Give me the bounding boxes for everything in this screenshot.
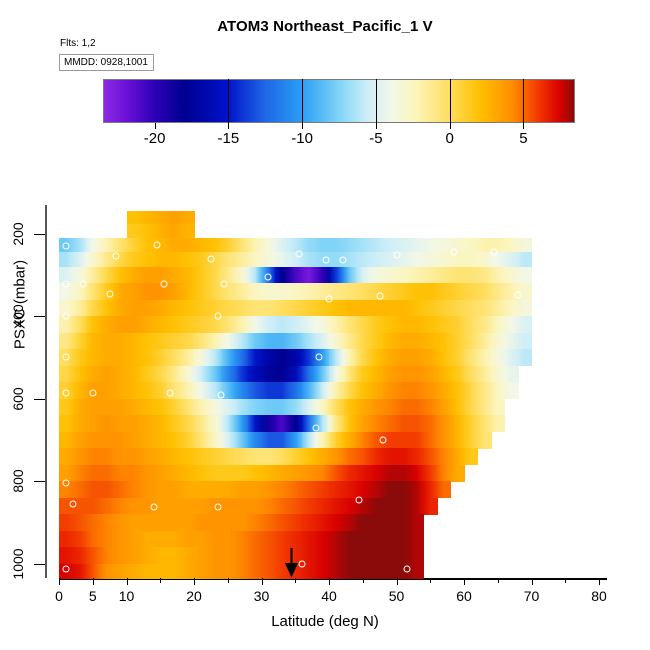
heatmap-cell [370, 547, 384, 564]
colorbar-tick-label: 0 [445, 130, 453, 147]
data-point-marker [214, 313, 221, 320]
heatmap-cell [221, 252, 235, 267]
heatmap-cell [397, 399, 411, 416]
heatmap-cell [235, 415, 249, 432]
heatmap-cell [154, 564, 168, 579]
heatmap-cell [289, 399, 303, 416]
heatmap-cell [167, 252, 181, 267]
heatmap-cell [343, 399, 357, 416]
heatmap-cell [221, 564, 235, 579]
heatmap-cell [478, 415, 492, 432]
heatmap-cell [424, 252, 438, 267]
heatmap-cell [140, 267, 154, 284]
heatmap-cell [437, 349, 451, 366]
heatmap-cell [302, 448, 316, 465]
heatmap-cell [464, 300, 478, 317]
heatmap-cell [410, 465, 424, 482]
heatmap-cell [397, 448, 411, 465]
heatmap-cell [275, 382, 289, 399]
heatmap-cell [86, 564, 100, 579]
heatmap-cell [437, 399, 451, 416]
heatmap-cell [86, 366, 100, 383]
heatmap-cell [356, 349, 370, 366]
heatmap-cell [424, 498, 438, 515]
heatmap-cell [140, 465, 154, 482]
heatmap-cell [302, 267, 316, 284]
heatmap-cell [113, 283, 127, 300]
heatmap-cell [343, 531, 357, 548]
heatmap-cell [356, 283, 370, 300]
heatmap-cell [248, 564, 262, 579]
heatmap-cell [370, 564, 384, 579]
heatmap-cell [127, 564, 141, 579]
heatmap-cell [491, 399, 505, 416]
x-axis-minor-tick [295, 578, 296, 583]
heatmap-cell [397, 366, 411, 383]
heatmap-cell [100, 531, 114, 548]
heatmap-cell [478, 382, 492, 399]
heatmap-cell [127, 465, 141, 482]
heatmap-cell [343, 349, 357, 366]
heatmap-cell [518, 252, 532, 267]
heatmap-cell [316, 238, 330, 253]
heatmap-cell [181, 211, 195, 224]
heatmap-cell [167, 267, 181, 284]
heatmap-cell [356, 382, 370, 399]
heatmap-cell [356, 267, 370, 284]
heatmap-cell [167, 316, 181, 333]
heatmap-cell [208, 349, 222, 366]
x-axis-tick [194, 578, 195, 585]
heatmap-cell [518, 267, 532, 284]
heatmap-cell [181, 267, 195, 284]
heatmap-cell [275, 498, 289, 515]
heatmap-cell [289, 432, 303, 449]
x-axis-title: Latitude (deg N) [0, 613, 650, 630]
heatmap-cell [289, 531, 303, 548]
heatmap-cell [437, 382, 451, 399]
heatmap-cell [248, 514, 262, 531]
heatmap-cell [505, 238, 519, 253]
heatmap-cell [356, 448, 370, 465]
heatmap-cell [208, 399, 222, 416]
heatmap-cell [154, 465, 168, 482]
heatmap-cell [140, 432, 154, 449]
heatmap-cell [127, 211, 141, 224]
heatmap-cell [208, 514, 222, 531]
heatmap-cell [181, 224, 195, 239]
heatmap-cell [383, 333, 397, 350]
heatmap-cell [329, 498, 343, 515]
heatmap-cell [127, 333, 141, 350]
heatmap-cell [100, 465, 114, 482]
heatmap-cell [100, 366, 114, 383]
heatmap-cell [235, 531, 249, 548]
heatmap-cell [383, 366, 397, 383]
data-point-marker [322, 256, 329, 263]
heatmap-cell [316, 564, 330, 579]
heatmap-cell [383, 498, 397, 515]
heatmap-cell [329, 481, 343, 498]
heatmap-cell [329, 514, 343, 531]
heatmap-cell [181, 238, 195, 253]
heatmap-cell [343, 498, 357, 515]
heatmap-cell [518, 238, 532, 253]
latitude-arrow-icon [285, 548, 298, 578]
heatmap-cell [181, 514, 195, 531]
heatmap-cell [289, 465, 303, 482]
heatmap-cell [316, 514, 330, 531]
heatmap-cell [113, 300, 127, 317]
heatmap-cell [127, 267, 141, 284]
heatmap-cell [410, 432, 424, 449]
mmdd-annotation: MMDD: 0928,1001 [59, 54, 154, 71]
heatmap-cell [316, 399, 330, 416]
heatmap-cell [329, 399, 343, 416]
heatmap-cell [154, 349, 168, 366]
heatmap-cell [397, 267, 411, 284]
heatmap-cell [221, 349, 235, 366]
heatmap-cell [478, 252, 492, 267]
heatmap-cell [140, 564, 154, 579]
heatmap-cell [370, 399, 384, 416]
heatmap-cell [383, 283, 397, 300]
heatmap-cell [167, 238, 181, 253]
y-axis-title: PSXC (mbar) [12, 205, 29, 405]
heatmap-cell [410, 448, 424, 465]
heatmap-cell [478, 366, 492, 383]
heatmap-cell [370, 382, 384, 399]
heatmap-cell [262, 333, 276, 350]
x-axis-tick-label: 60 [456, 588, 472, 604]
heatmap-cell [316, 547, 330, 564]
heatmap-cell [154, 415, 168, 432]
heatmap-cell [383, 514, 397, 531]
heatmap-cell [194, 267, 208, 284]
heatmap-cell [451, 399, 465, 416]
x-axis-tick [262, 578, 263, 585]
data-point-marker [113, 252, 120, 259]
heatmap-cell [424, 399, 438, 416]
x-axis-tick-label: 70 [524, 588, 540, 604]
heatmap-cell [194, 465, 208, 482]
heatmap-cell [140, 366, 154, 383]
data-point-marker [218, 392, 225, 399]
heatmap-cell [86, 481, 100, 498]
heatmap-cell [167, 498, 181, 515]
x-axis-tick [464, 578, 465, 585]
heatmap-cell [410, 333, 424, 350]
colorbar-tick-line [450, 79, 451, 123]
x-axis-tick [397, 578, 398, 585]
heatmap-cell [343, 238, 357, 253]
heatmap-cell [316, 465, 330, 482]
heatmap-cell [208, 547, 222, 564]
heatmap-cell [113, 415, 127, 432]
heatmap-cell [451, 283, 465, 300]
heatmap-cell [100, 382, 114, 399]
heatmap-cell [248, 252, 262, 267]
heatmap-cell [86, 316, 100, 333]
heatmap-cell [73, 382, 87, 399]
heatmap-cell [262, 432, 276, 449]
heatmap-cell [451, 432, 465, 449]
heatmap-cell [140, 349, 154, 366]
heatmap-cell [275, 481, 289, 498]
heatmap-cell [478, 432, 492, 449]
heatmap-cell [262, 531, 276, 548]
heatmap-cell [383, 481, 397, 498]
heatmap-cell [356, 333, 370, 350]
heatmap-cell [73, 366, 87, 383]
heatmap-cell [329, 300, 343, 317]
heatmap-cell [167, 349, 181, 366]
heatmap-cell [194, 316, 208, 333]
heatmap-cell [140, 514, 154, 531]
heatmap-cell [383, 267, 397, 284]
heatmap-cell [59, 399, 73, 416]
heatmap-cell [208, 267, 222, 284]
plot-root: ATOM3 Northeast_Pacific_1 V Flts: 1,2 MM… [0, 0, 650, 650]
heatmap-cell [140, 252, 154, 267]
heatmap-cell [167, 514, 181, 531]
colorbar-tick-line [523, 79, 524, 123]
heatmap-cell [86, 252, 100, 267]
heatmap-cell [127, 366, 141, 383]
heatmap-cell [127, 514, 141, 531]
heatmap-cell [383, 382, 397, 399]
heatmap-cell [505, 333, 519, 350]
heatmap-cell [167, 283, 181, 300]
heatmap-cell [73, 531, 87, 548]
heatmap-cell [451, 415, 465, 432]
data-point-marker [62, 565, 69, 572]
heatmap-cell [194, 382, 208, 399]
heatmap-cell [370, 531, 384, 548]
heatmap-cell [397, 349, 411, 366]
heatmap-cell [437, 448, 451, 465]
heatmap-cell [194, 252, 208, 267]
heatmap-cell [302, 300, 316, 317]
heatmap-cell [356, 564, 370, 579]
heatmap-cell [356, 465, 370, 482]
heatmap-cell [316, 481, 330, 498]
heatmap-cell [424, 448, 438, 465]
heatmap-cell [370, 267, 384, 284]
heatmap-cell [424, 432, 438, 449]
heatmap-cell [410, 547, 424, 564]
heatmap-cell [113, 432, 127, 449]
heatmap-cell [127, 415, 141, 432]
heatmap-cell [113, 382, 127, 399]
heatmap-cell [464, 366, 478, 383]
heatmap-cell [302, 366, 316, 383]
heatmap-cell [167, 531, 181, 548]
heatmap-cell [167, 399, 181, 416]
heatmap-cell [397, 238, 411, 253]
heatmap-cell [221, 399, 235, 416]
heatmap-cell [100, 399, 114, 416]
heatmap-cell [248, 238, 262, 253]
heatmap-cell [491, 283, 505, 300]
heatmap-cell [370, 514, 384, 531]
heatmap-cell [289, 498, 303, 515]
heatmap-cell [113, 316, 127, 333]
heatmap-cell [221, 465, 235, 482]
heatmap-cell [437, 283, 451, 300]
heatmap-cell [73, 300, 87, 317]
x-axis-tick [532, 578, 533, 585]
heatmap-cell [181, 333, 195, 350]
heatmap-cell [451, 333, 465, 350]
colorbar-tick-line [376, 79, 377, 123]
heatmap-cell [275, 415, 289, 432]
heatmap-cell [140, 481, 154, 498]
heatmap-cell [505, 366, 519, 383]
heatmap-cell [167, 366, 181, 383]
heatmap-cell [181, 432, 195, 449]
heatmap-cell [208, 432, 222, 449]
heatmap-cell [356, 547, 370, 564]
heatmap-cell [221, 238, 235, 253]
heatmap-cell [221, 432, 235, 449]
y-axis-tick [34, 234, 45, 235]
heatmap-cell [235, 316, 249, 333]
heatmap-cell [140, 238, 154, 253]
heatmap-cell [370, 300, 384, 317]
heatmap-cell [343, 415, 357, 432]
heatmap-cell [410, 300, 424, 317]
heatmap-cell [275, 252, 289, 267]
heatmap-cell [397, 547, 411, 564]
heatmap-cell [356, 514, 370, 531]
heatmap-cell [181, 399, 195, 416]
heatmap-cell [221, 498, 235, 515]
heatmap-cell [100, 481, 114, 498]
heatmap-cell [343, 448, 357, 465]
heatmap-cell [154, 316, 168, 333]
heatmap-cell [113, 531, 127, 548]
heatmap-cell [424, 366, 438, 383]
data-point-marker [62, 389, 69, 396]
heatmap-cell [113, 465, 127, 482]
heatmap-cell [181, 366, 195, 383]
heatmap-cell [275, 349, 289, 366]
heatmap-cell [397, 415, 411, 432]
colorbar-tick-line [228, 79, 229, 123]
heatmap-cell [437, 481, 451, 498]
heatmap-cell [464, 448, 478, 465]
colorbar-tick-label: -20 [144, 130, 166, 147]
heatmap-cell [248, 300, 262, 317]
heatmap-cell [356, 399, 370, 416]
heatmap-cell [302, 531, 316, 548]
heatmap-cell [181, 498, 195, 515]
data-point-marker [295, 250, 302, 257]
heatmap-cell [221, 547, 235, 564]
heatmap-cell [100, 300, 114, 317]
heatmap-cell [370, 252, 384, 267]
heatmap-cell [491, 366, 505, 383]
heatmap-cell [275, 300, 289, 317]
heatmap-cell [451, 366, 465, 383]
heatmap-cell [302, 238, 316, 253]
heatmap-cell [86, 531, 100, 548]
heatmap-cell [262, 448, 276, 465]
page-title: ATOM3 Northeast_Pacific_1 V [0, 18, 650, 35]
heatmap-cell [194, 366, 208, 383]
heatmap-cell [302, 514, 316, 531]
heatmap-cell [370, 238, 384, 253]
heatmap-cell [248, 465, 262, 482]
heatmap-cell [100, 267, 114, 284]
heatmap-cell [437, 415, 451, 432]
heatmap-cell [262, 349, 276, 366]
heatmap-cell [113, 366, 127, 383]
heatmap-cell [127, 349, 141, 366]
heatmap-cell [410, 316, 424, 333]
colorbar [103, 79, 575, 123]
heatmap-cell [181, 481, 195, 498]
heatmap-cell [235, 382, 249, 399]
heatmap-cell [113, 498, 127, 515]
data-point-marker [299, 560, 306, 567]
heatmap-cell [275, 283, 289, 300]
heatmap-cell [424, 481, 438, 498]
y-axis-tick [34, 316, 45, 317]
heatmap-cell [248, 382, 262, 399]
heatmap-cell [289, 415, 303, 432]
heatmap-cell [410, 366, 424, 383]
heatmap-cell [262, 547, 276, 564]
heatmap-cell [113, 481, 127, 498]
heatmap-cell [248, 349, 262, 366]
data-point-marker [89, 389, 96, 396]
heatmap-cell [302, 382, 316, 399]
heatmap-cell [181, 316, 195, 333]
heatmap-cell [370, 349, 384, 366]
heatmap-cell [383, 238, 397, 253]
heatmap-cell [275, 432, 289, 449]
heatmap-cell [424, 415, 438, 432]
heatmap-cell [383, 300, 397, 317]
data-point-marker [207, 255, 214, 262]
y-axis-tick-label: 1000 [10, 548, 26, 579]
heatmap-cell [343, 333, 357, 350]
heatmap-cell [464, 399, 478, 416]
heatmap-cell [397, 316, 411, 333]
heatmap-cell [154, 333, 168, 350]
y-axis-tick [34, 481, 45, 482]
heatmap-cell [356, 316, 370, 333]
heatmap-cell [235, 481, 249, 498]
heatmap-cell [235, 333, 249, 350]
heatmap-cell [262, 514, 276, 531]
heatmap-cell [478, 316, 492, 333]
data-point-marker [450, 248, 457, 255]
heatmap-cell [127, 531, 141, 548]
heatmap-cell [248, 415, 262, 432]
heatmap-cell [113, 399, 127, 416]
heatmap-cell [275, 399, 289, 416]
heatmap-cell [437, 366, 451, 383]
heatmap-cell [343, 267, 357, 284]
heatmap-cell [424, 382, 438, 399]
heatmap-cell [73, 349, 87, 366]
heatmap-cell [167, 432, 181, 449]
heatmap-cell [194, 547, 208, 564]
heatmap-cell [194, 432, 208, 449]
